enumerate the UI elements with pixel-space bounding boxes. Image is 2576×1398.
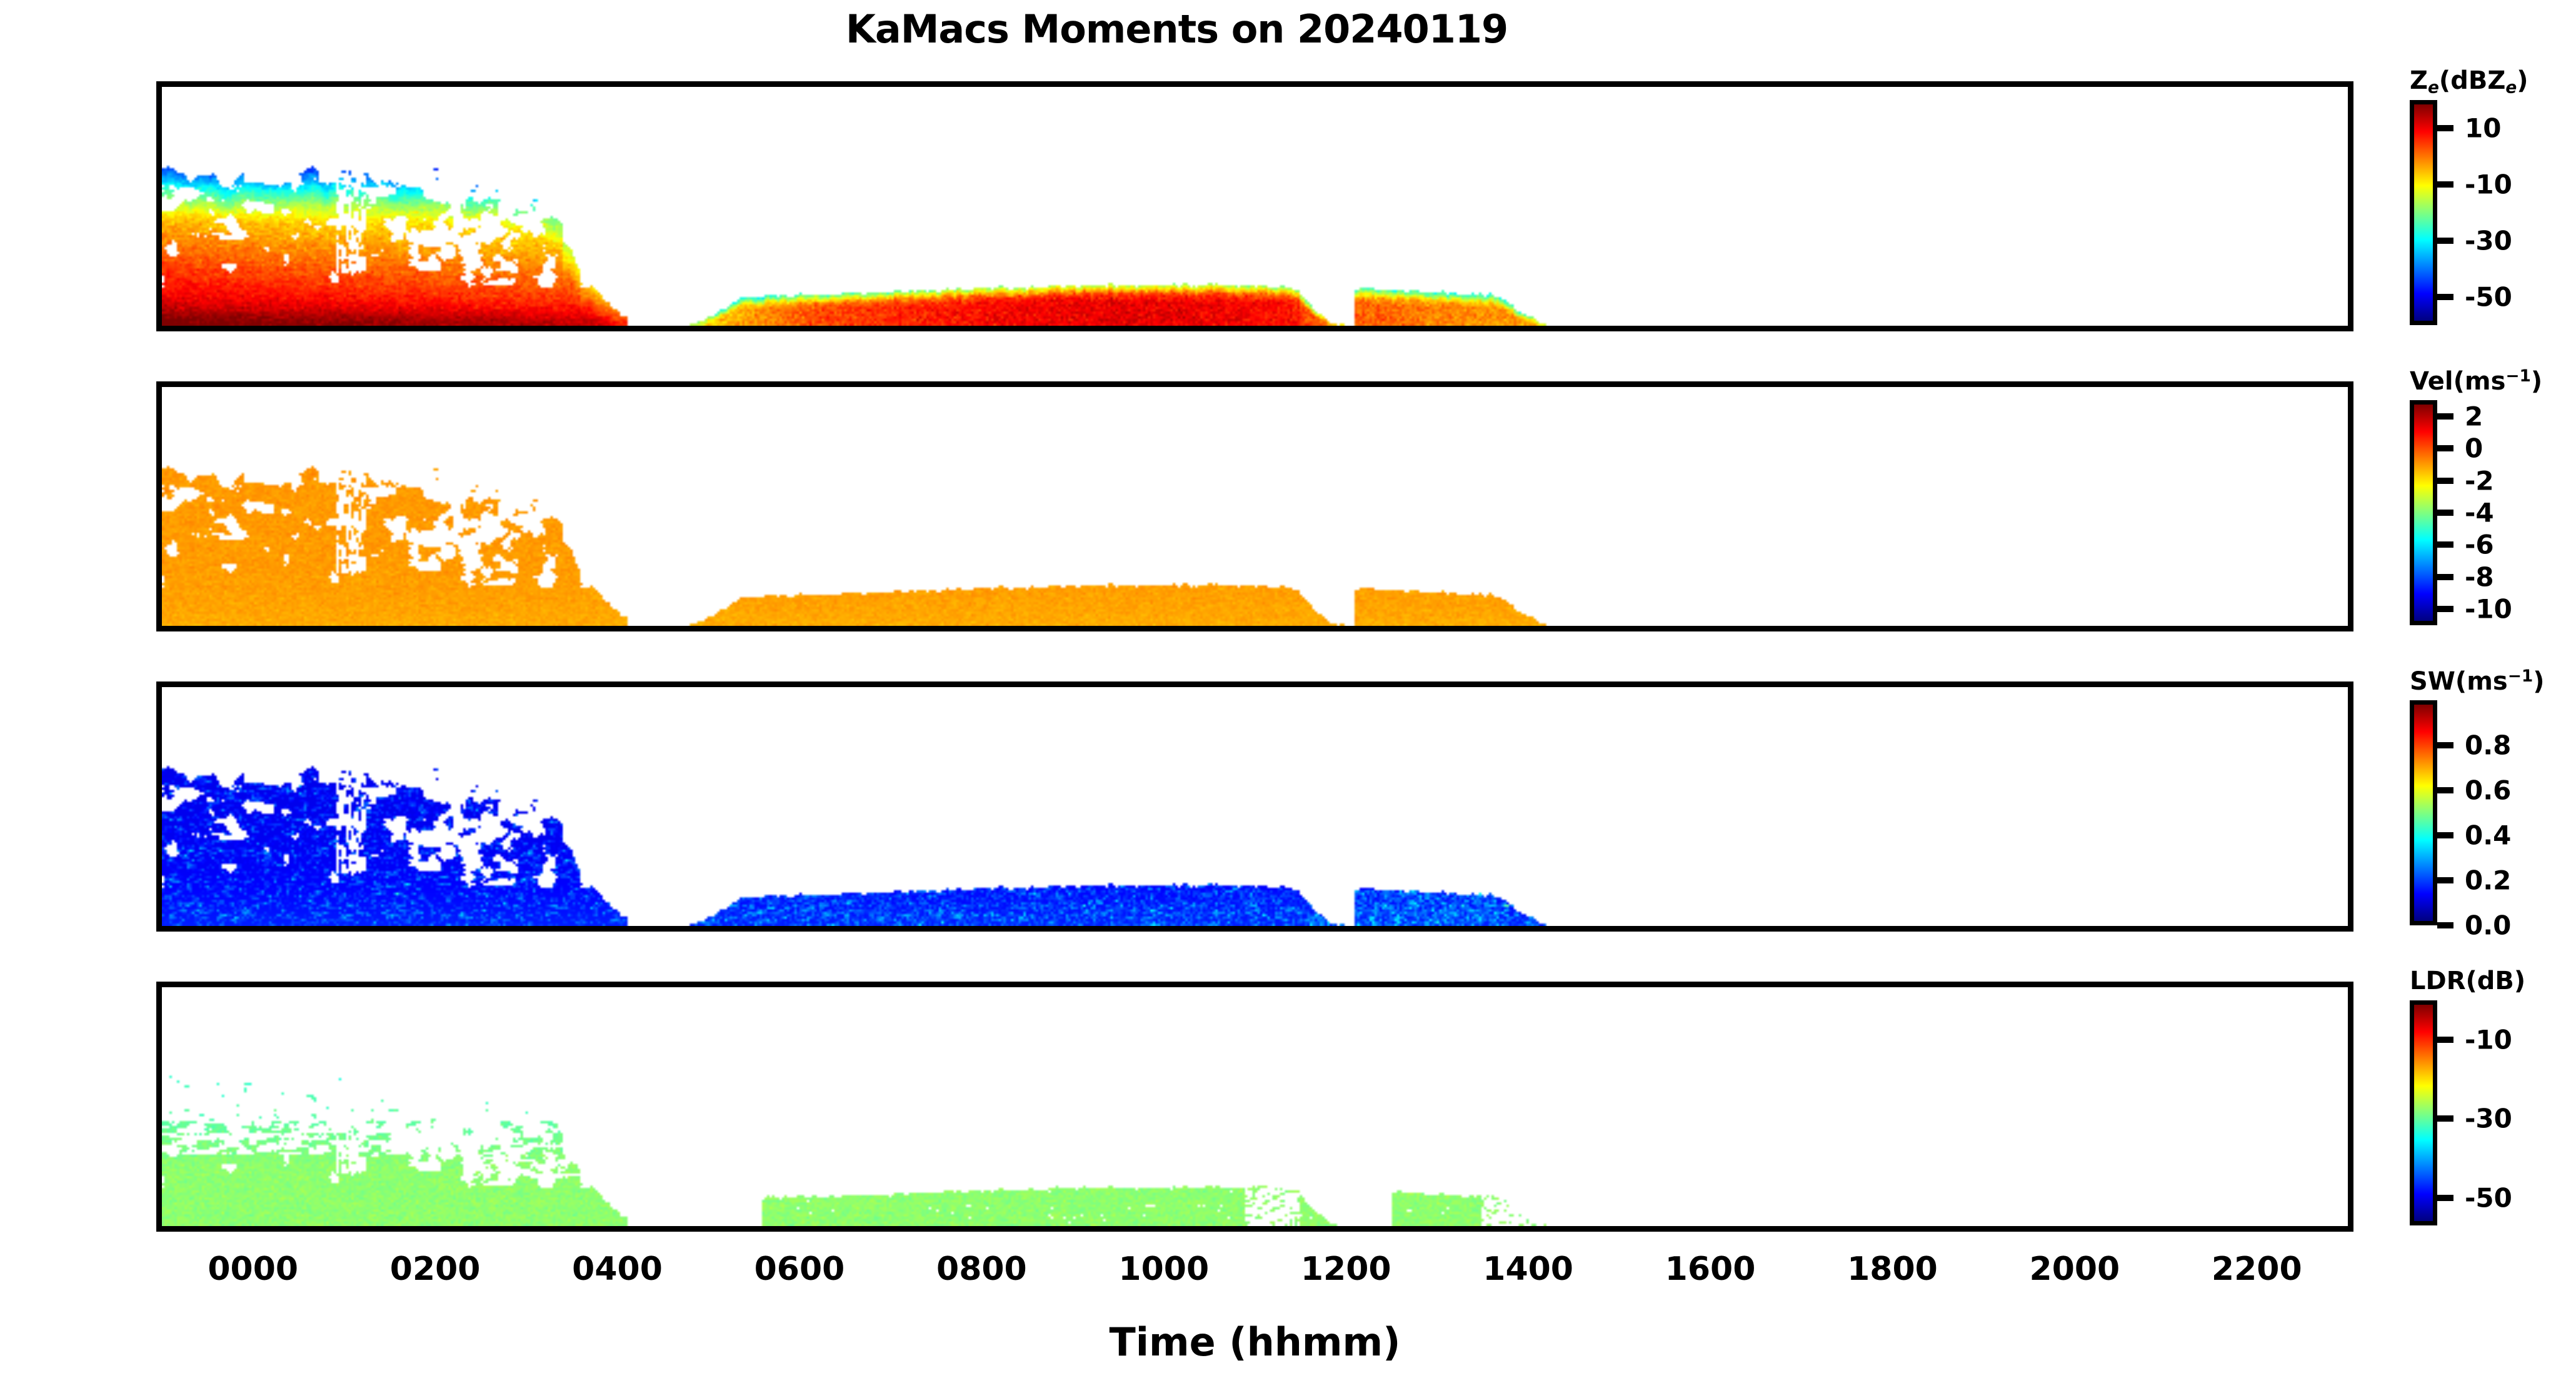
- colorbar-gradient-vel: [2410, 400, 2437, 625]
- y-tick-major: [156, 1149, 162, 1155]
- plotarea-vel: [162, 387, 2348, 626]
- y-tick-major: [156, 1229, 162, 1232]
- colorbar-tick: [2437, 125, 2453, 131]
- colorbar-tick-label: -30: [2465, 1104, 2512, 1134]
- heatmap-sw: [162, 687, 2348, 926]
- colorbar-tick: [2437, 445, 2453, 451]
- colorbar-tick: [2437, 238, 2453, 244]
- y-tick-major: [156, 848, 162, 855]
- colorbar-tick: [2437, 413, 2453, 420]
- colorbar-tick-label: 10: [2465, 113, 2501, 144]
- colorbar-tick: [2437, 294, 2453, 300]
- colorbar-tick-label: -10: [2465, 594, 2512, 625]
- colorbar-tick-label: -50: [2465, 1182, 2512, 1213]
- x-tick-label: 1200: [1301, 1250, 1391, 1288]
- y-tick-minor: [156, 209, 162, 215]
- colorbar-tick: [2437, 541, 2453, 548]
- colorbar-tick: [2437, 877, 2453, 883]
- colorbar-gradient-ldr: [2410, 1000, 2437, 1225]
- colorbar-gradient-sw: [2410, 700, 2437, 925]
- colorbar-tick-label: -10: [2465, 169, 2512, 200]
- colorbar-title-ze: Ze(dBZe): [2410, 66, 2528, 98]
- y-tick-major: [156, 248, 162, 255]
- y-tick-minor: [156, 810, 162, 815]
- y-tick-minor: [156, 889, 162, 895]
- x-tick-label: 0000: [208, 1250, 298, 1288]
- y-tick-major: [156, 1069, 162, 1076]
- colorbar-gradient-ze: [2410, 100, 2437, 325]
- y-tick-major: [156, 548, 162, 555]
- y-tick-minor: [156, 129, 162, 135]
- x-axis-title: Time (hhmm): [156, 1319, 2353, 1365]
- plotarea-ze: [162, 87, 2348, 326]
- y-tick-major: [156, 328, 162, 332]
- figure: KaMacs Moments on 20240119 Height above …: [0, 0, 2576, 1398]
- colorbar-tick-label: 0.8: [2465, 730, 2511, 761]
- y-tick-minor: [156, 1189, 162, 1195]
- colorbar-tick-label: 0.2: [2465, 865, 2511, 896]
- y-tick-minor: [156, 730, 162, 735]
- colorbar-title-vel: Vel(ms−1): [2410, 366, 2542, 396]
- x-tick-label: 1000: [1118, 1250, 1209, 1288]
- colorbar-tick-label: 0.4: [2465, 820, 2511, 851]
- x-tick-label: 0200: [390, 1250, 481, 1288]
- y-tick-major: [156, 469, 162, 476]
- colorbar-tick-label: -30: [2465, 226, 2512, 256]
- heatmap-vel: [162, 387, 2348, 626]
- colorbar-tick: [2437, 922, 2453, 928]
- panel-sw[interactable]: 04812: [156, 681, 2353, 932]
- x-tick-label: 0400: [572, 1250, 663, 1288]
- x-tick-label: 1400: [1483, 1250, 1573, 1288]
- y-tick-minor: [156, 430, 162, 435]
- page-title: KaMacs Moments on 20240119: [0, 6, 2353, 52]
- colorbar-title-ldr: LDR(dB): [2410, 967, 2525, 995]
- colorbar-tick: [2437, 742, 2453, 748]
- heatmap-ze: [162, 87, 2348, 326]
- y-tick-major: [156, 390, 162, 396]
- panel-vel[interactable]: 04812: [156, 381, 2353, 631]
- y-tick-minor: [156, 589, 162, 595]
- colorbar-tick-label: 2: [2465, 401, 2483, 431]
- colorbar-tick-label: 0.0: [2465, 910, 2511, 941]
- y-tick-major: [156, 169, 162, 176]
- plotarea-ldr: [162, 987, 2348, 1226]
- x-tick-label: 2000: [2030, 1250, 2120, 1288]
- panel-ze[interactable]: 04812: [156, 81, 2353, 331]
- colorbar-tick: [2437, 478, 2453, 484]
- colorbar-tick: [2437, 510, 2453, 516]
- plotarea-sw: [162, 687, 2348, 926]
- colorbar-tick-label: -50: [2465, 282, 2512, 313]
- y-tick-major: [156, 628, 162, 632]
- y-tick-minor: [156, 510, 162, 515]
- x-tick-label: 0800: [936, 1250, 1027, 1288]
- colorbar-tick-label: -8: [2465, 561, 2494, 592]
- colorbar-tick-label: 0.6: [2465, 775, 2511, 806]
- colorbar-tick-label: 0: [2465, 433, 2483, 464]
- y-tick-major: [156, 928, 162, 932]
- panel-ldr[interactable]: 04812: [156, 982, 2353, 1232]
- y-tick-major: [156, 769, 162, 776]
- colorbar-title-sw: SW(ms−1): [2410, 666, 2544, 696]
- y-tick-minor: [156, 1110, 162, 1115]
- colorbar-tick-label: -2: [2465, 465, 2494, 496]
- x-tick-label: 1800: [1847, 1250, 1938, 1288]
- colorbar-tick: [2437, 574, 2453, 580]
- y-tick-minor: [156, 289, 162, 294]
- colorbar-tick: [2437, 1195, 2453, 1201]
- colorbar-tick: [2437, 787, 2453, 793]
- y-tick-major: [156, 990, 162, 997]
- colorbar-tick-label: -4: [2465, 498, 2494, 528]
- y-tick-minor: [156, 1030, 162, 1035]
- colorbar-tick: [2437, 832, 2453, 838]
- y-tick-major: [156, 690, 162, 696]
- colorbar-tick: [2437, 1037, 2453, 1043]
- colorbar-tick: [2437, 606, 2453, 612]
- x-tick-label: 1600: [1665, 1250, 1756, 1288]
- colorbar-tick: [2437, 1115, 2453, 1122]
- colorbar-tick-label: -6: [2465, 530, 2494, 560]
- colorbar-tick-label: -10: [2465, 1025, 2512, 1055]
- y-tick-major: [156, 89, 162, 96]
- heatmap-ldr: [162, 987, 2348, 1226]
- colorbar-tick: [2437, 181, 2453, 188]
- x-tick-label: 2200: [2212, 1250, 2302, 1288]
- x-tick-label: 0600: [754, 1250, 845, 1288]
